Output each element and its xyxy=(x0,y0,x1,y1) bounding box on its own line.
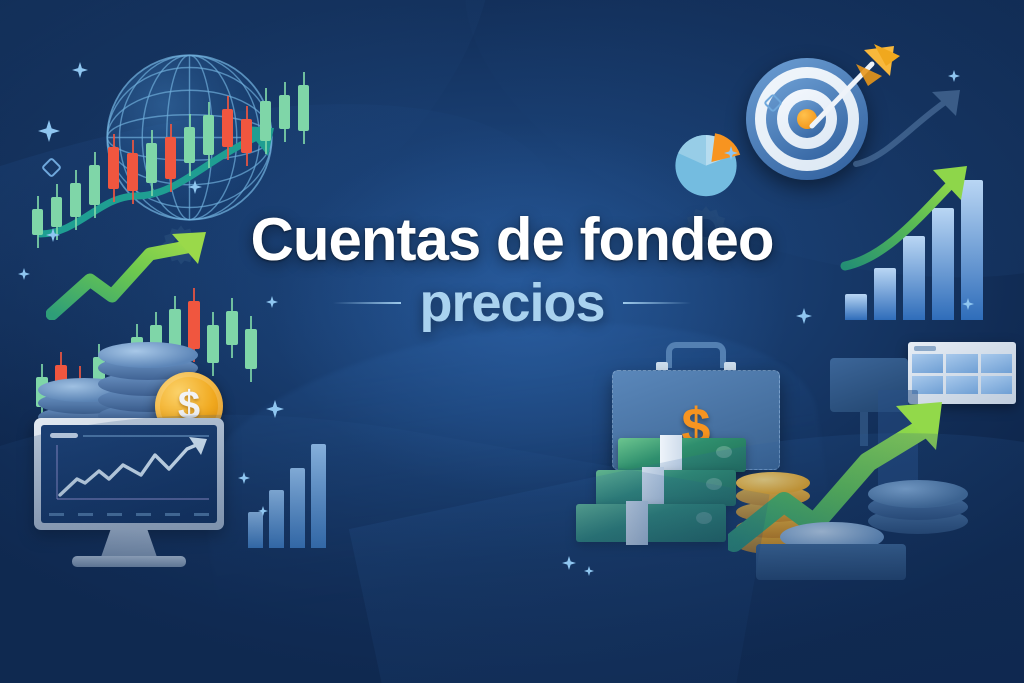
cash-bundle xyxy=(618,438,746,472)
sparkle-icon xyxy=(562,556,576,570)
title-block: Cuentas de fondeo precios xyxy=(0,208,1024,332)
left-bar-chart xyxy=(248,440,332,548)
cash-bundle xyxy=(596,470,736,506)
candlestick xyxy=(279,82,290,142)
globe-candlestick-cluster xyxy=(60,48,320,228)
candlestick xyxy=(260,88,271,154)
monitor-base xyxy=(72,556,186,567)
candlestick xyxy=(165,124,176,192)
candlestick xyxy=(203,102,214,168)
candlestick xyxy=(298,72,309,144)
banner-canvas: $ xyxy=(0,0,1024,683)
cash-seal xyxy=(696,512,712,524)
candlestick xyxy=(241,106,252,166)
cash-seal xyxy=(706,478,722,490)
candlestick xyxy=(184,114,195,176)
monitor-screen xyxy=(41,425,217,523)
pie-chart-icon xyxy=(670,126,742,198)
briefcase-handle xyxy=(666,342,726,368)
chart-bar xyxy=(248,512,263,548)
grid-panel-icon xyxy=(908,342,1016,404)
monitor-bezel xyxy=(34,418,224,530)
title-rule-left xyxy=(333,302,401,304)
candlestick xyxy=(108,134,119,202)
screen-axis-dashes xyxy=(49,513,209,516)
cash-bundle xyxy=(576,504,726,542)
candlestick xyxy=(127,140,138,204)
cash-band xyxy=(626,501,648,545)
title-rule-right xyxy=(623,302,691,304)
sparkle-icon xyxy=(948,70,960,82)
subtitle-row: precios xyxy=(0,275,1024,332)
page-subtitle: precios xyxy=(419,275,604,332)
page-title: Cuentas de fondeo xyxy=(0,208,1024,271)
candlestick xyxy=(146,130,157,196)
blue-platform xyxy=(756,544,906,580)
chart-bar xyxy=(269,490,284,548)
rising-zigzag-line-with-arrow-icon xyxy=(41,425,217,523)
candlestick xyxy=(222,96,233,160)
chart-bar xyxy=(311,444,326,548)
chart-bar xyxy=(290,468,305,548)
briefcase-money-cluster: $ xyxy=(578,330,1024,580)
monitor-icon xyxy=(34,418,224,568)
